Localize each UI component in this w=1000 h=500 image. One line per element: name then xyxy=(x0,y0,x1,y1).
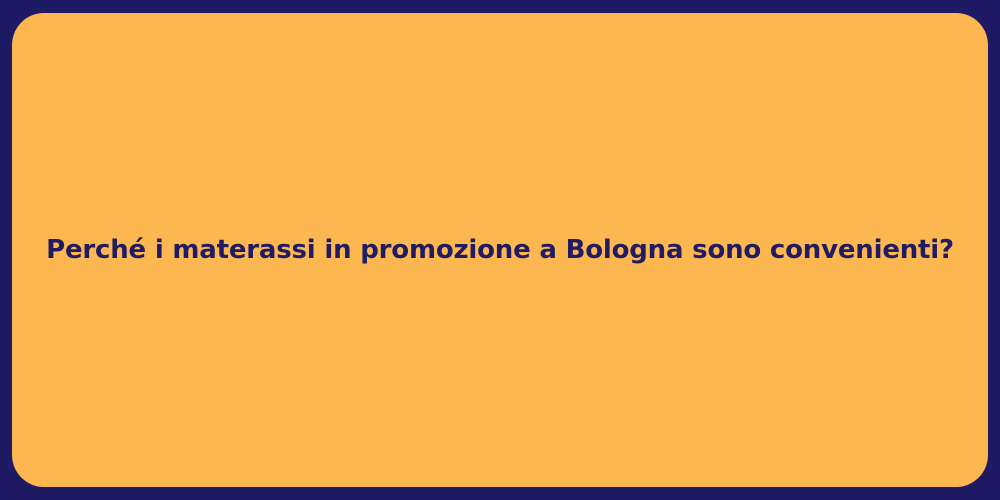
banner-frame: Perché i materassi in promozione a Bolog… xyxy=(0,0,1000,500)
page-title: Perché i materassi in promozione a Bolog… xyxy=(46,234,954,267)
banner-card: Perché i materassi in promozione a Bolog… xyxy=(12,13,988,487)
